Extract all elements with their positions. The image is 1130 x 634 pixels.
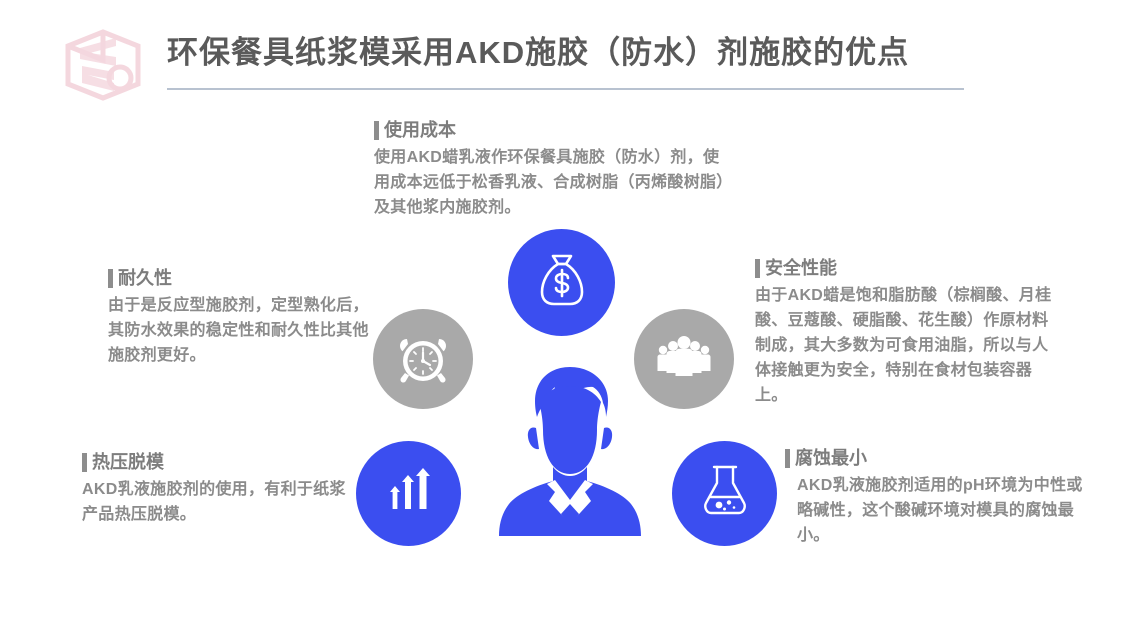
feature-block-hot-press: 热压脱模 AKD乳液施胶剂的使用，有利于纸浆产品热压脱模。: [82, 452, 362, 527]
growth-arrows-icon: [381, 467, 437, 520]
alarm-clock-icon: [395, 329, 451, 390]
feature-heading-label: 耐久性: [118, 268, 172, 288]
feature-body-cost: 使用AKD蜡乳液作环保餐具施胶（防水）剂，使用成本远低于松香乳液、合成树脂（丙烯…: [374, 145, 734, 220]
slide-canvas: 环保餐具纸浆模采用AKD施胶（防水）剂施胶的优点 使用成本 使用AKD蜡乳液作环…: [0, 0, 1130, 634]
feature-block-corrosion: 腐蚀最小 AKD乳液施胶剂适用的pH环境为中性或略碱性，这个酸碱环境对模具的腐蚀…: [785, 448, 1085, 548]
feature-body-hot-press: AKD乳液施胶剂的使用，有利于纸浆产品热压脱模。: [82, 477, 362, 527]
feature-body-durability: 由于是反应型施胶剂，定型熟化后，其防水效果的稳定性和耐久性比其他施胶剂更好。: [108, 293, 383, 368]
accent-bar-icon: [82, 453, 87, 472]
accent-bar-icon: [374, 121, 379, 140]
slide-header: 环保餐具纸浆模采用AKD施胶（防水）剂施胶的优点: [0, 0, 1130, 110]
feature-heading-label: 使用成本: [384, 120, 456, 140]
icon-circle-hot-press[interactable]: [356, 441, 461, 546]
icon-circle-corrosion[interactable]: [672, 441, 777, 546]
feature-heading-durability: 耐久性: [108, 268, 383, 288]
feature-block-safety: 安全性能 由于AKD蜡是饱和脂肪酸（棕榈酸、月桂酸、豆蔻酸、硬脂酸、花生酸）作原…: [755, 258, 1055, 408]
feature-body-corrosion: AKD乳液施胶剂适用的pH环境为中性或略碱性，这个酸碱环境对模具的腐蚀最小。: [785, 473, 1085, 548]
feature-body-safety: 由于AKD蜡是饱和脂肪酸（棕榈酸、月桂酸、豆蔻酸、硬脂酸、花生酸）作原材料制成，…: [755, 283, 1055, 408]
feature-heading-label: 腐蚀最小: [795, 448, 867, 468]
accent-bar-icon: [785, 449, 790, 468]
person-avatar-illustration: [495, 364, 645, 544]
accent-bar-icon: [755, 259, 760, 278]
feature-block-cost: 使用成本 使用AKD蜡乳液作环保餐具施胶（防水）剂，使用成本远低于松香乳液、合成…: [374, 120, 734, 220]
feature-heading-cost: 使用成本: [374, 120, 734, 140]
feature-heading-corrosion: 腐蚀最小: [785, 448, 1085, 468]
icon-circle-cost[interactable]: [508, 229, 615, 336]
feature-heading-label: 热压脱模: [92, 452, 164, 472]
title-underline: [167, 88, 964, 90]
accent-bar-icon: [108, 269, 113, 288]
feature-heading-safety: 安全性能: [755, 258, 1055, 278]
feature-block-durability: 耐久性 由于是反应型施胶剂，定型熟化后，其防水效果的稳定性和耐久性比其他施胶剂更…: [108, 268, 383, 368]
money-bag-icon: [536, 252, 588, 313]
lab-flask-icon: [700, 463, 750, 524]
page-title-text: 环保餐具纸浆模采用AKD施胶（防水）剂施胶的优点: [167, 32, 967, 74]
people-group-icon: [655, 335, 713, 384]
icon-circle-safety[interactable]: [634, 309, 734, 409]
feature-heading-label: 安全性能: [765, 258, 837, 278]
icon-circle-durability[interactable]: [373, 309, 473, 409]
page-title: 环保餐具纸浆模采用AKD施胶（防水）剂施胶的优点: [167, 32, 967, 74]
cube-s-logo: [58, 26, 148, 104]
feature-heading-hot-press: 热压脱模: [82, 452, 362, 472]
